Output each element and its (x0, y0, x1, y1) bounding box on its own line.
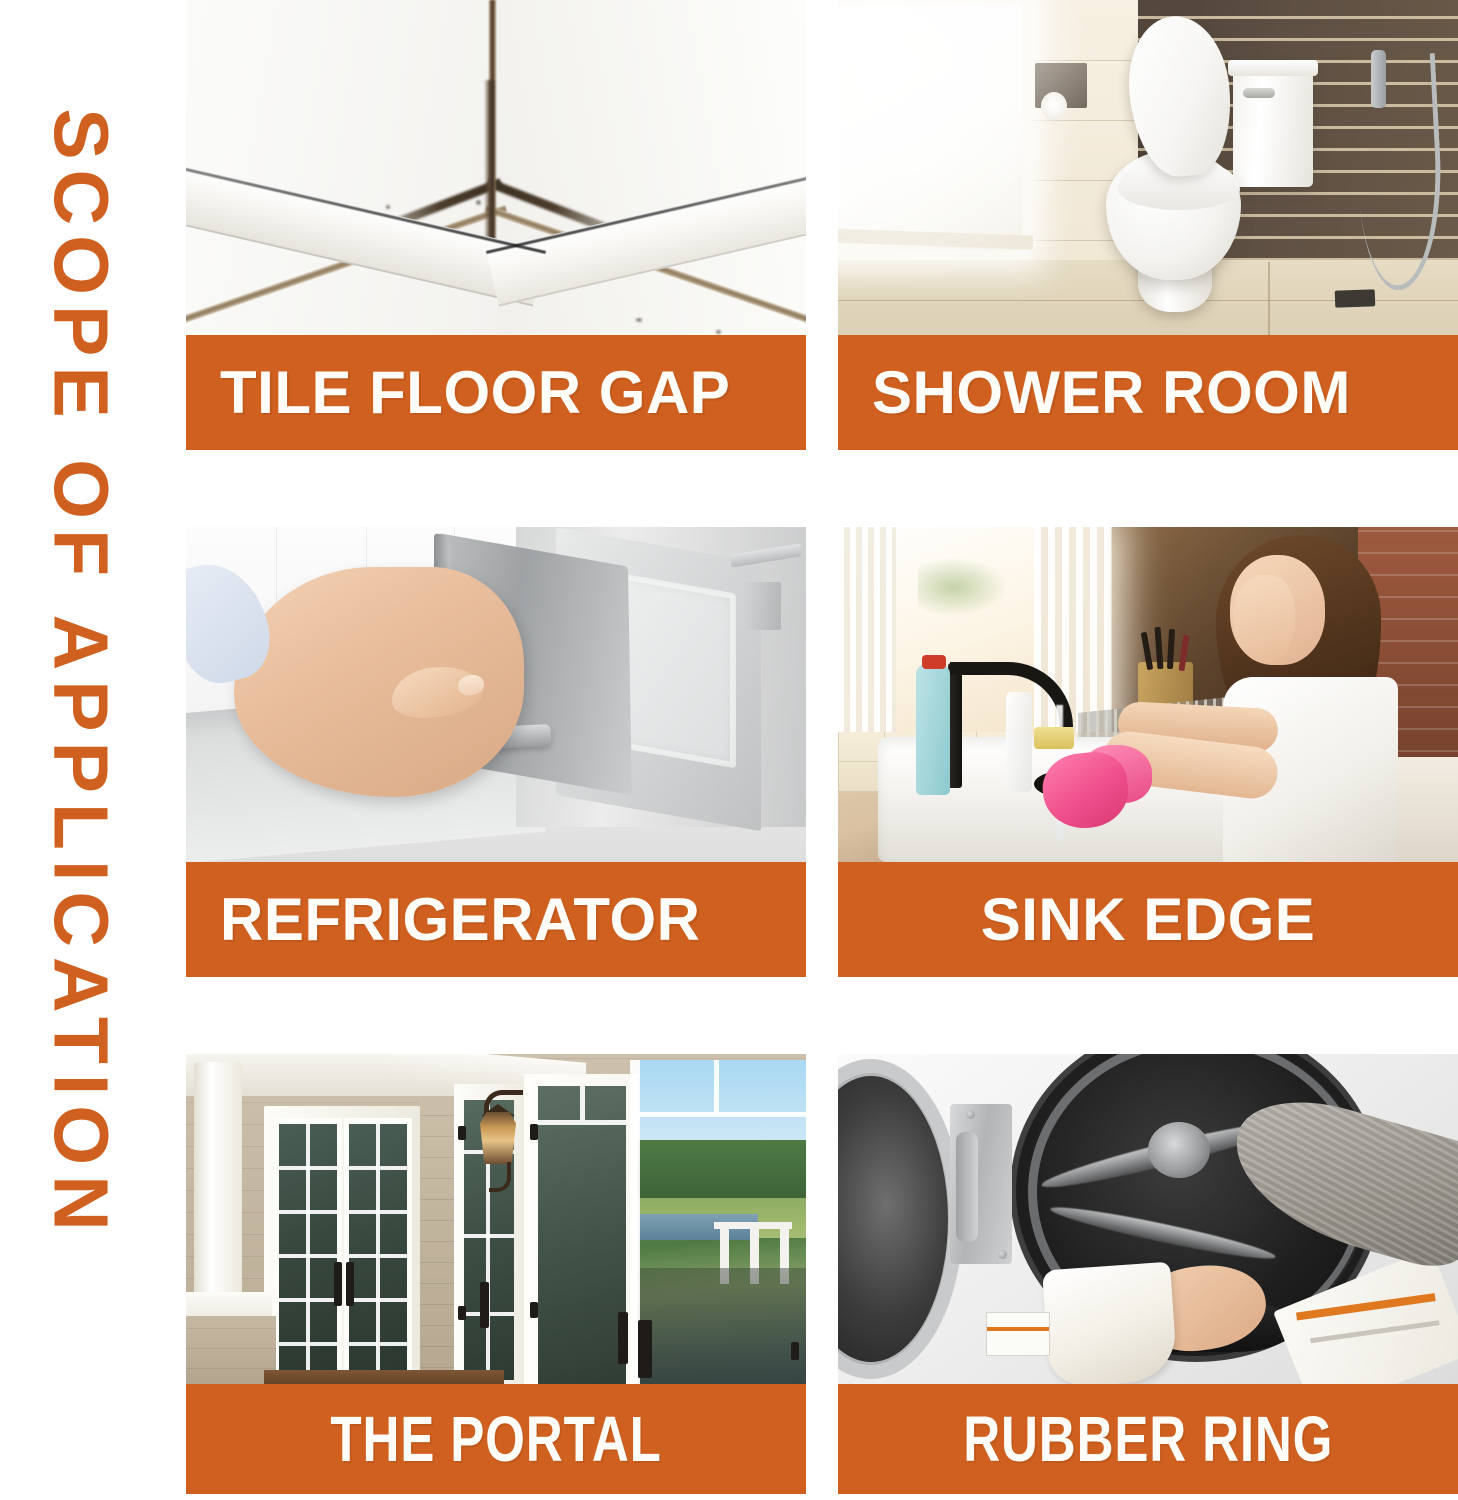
fridge-hinge (741, 582, 781, 630)
porch-column (194, 1062, 242, 1307)
photo-refrigerator (186, 527, 806, 862)
reflection-trees (638, 1140, 806, 1198)
caption-bar-rubber-ring: RUBBER RING (838, 1384, 1458, 1494)
photo-the-portal (186, 1054, 806, 1384)
spray-bottle-cap (922, 655, 946, 669)
floor-drain (1335, 289, 1376, 307)
door-hinge (530, 1302, 538, 1318)
photo-sink-edge (838, 527, 1458, 862)
door-threshold (264, 1370, 504, 1384)
lantern-light-icon (480, 1112, 516, 1164)
application-card-refrigerator[interactable]: REFRIGERATOR (186, 527, 806, 977)
screw (998, 1250, 1007, 1259)
grime-speck (636, 318, 642, 322)
grime-speck (716, 330, 721, 334)
photo-rubber-ring (838, 1054, 1458, 1384)
grime-speck (476, 200, 481, 205)
floor-joint (1268, 262, 1270, 335)
toilet-tank-lid (1228, 60, 1318, 76)
caption-label: REFRIGERATOR (220, 890, 700, 950)
muntin-bar (580, 1086, 585, 1120)
spray-bottle (916, 665, 950, 795)
cleaning-cloth (1042, 1262, 1178, 1384)
application-card-tile-floor-gap[interactable]: TILE FLOOR GAP (186, 0, 806, 450)
door-handle[interactable] (618, 1312, 628, 1364)
scope-of-application-poster: SCOPE OF APPLICATION (0, 0, 1458, 1500)
photo-shower-room (838, 0, 1458, 335)
side-title-text: SCOPE OF APPLICATION (36, 15, 125, 1335)
door-hinge (791, 1342, 799, 1360)
caption-bar-shower-room: SHOWER ROOM (838, 335, 1458, 450)
muntin-bar (538, 1120, 626, 1125)
screw (966, 1110, 975, 1119)
label-stripe (1296, 1293, 1436, 1320)
bidet-sprayer (1371, 50, 1386, 108)
application-card-rubber-ring[interactable]: RUBBER RING (838, 1054, 1458, 1499)
toilet-tank (1233, 62, 1313, 187)
door-handle[interactable] (346, 1262, 354, 1306)
grime-speck (386, 205, 390, 209)
door-handle[interactable] (334, 1262, 342, 1306)
girl-face (1233, 575, 1295, 663)
window-greenery (918, 557, 1008, 617)
window-glow (838, 0, 1098, 290)
application-card-sink-edge[interactable]: SINK EDGE (838, 527, 1458, 977)
chair (1398, 757, 1458, 862)
door-hinge (530, 1124, 538, 1140)
application-card-the-portal[interactable]: THE PORTAL (186, 1054, 806, 1499)
door-handle[interactable] (480, 1282, 489, 1328)
application-card-shower-room[interactable]: SHOWER ROOM (838, 0, 1458, 450)
muntin-bar (306, 1124, 310, 1372)
door-glass-right-inner (538, 1086, 626, 1384)
caption-bar-the-portal: THE PORTAL (186, 1384, 806, 1494)
caption-label: SHOWER ROOM (872, 363, 1351, 423)
door-hinge (458, 1126, 466, 1140)
door-hinge (458, 1306, 466, 1320)
muntin-bar (714, 1060, 719, 1112)
muntin-bar (376, 1124, 380, 1372)
side-title-banner: SCOPE OF APPLICATION (0, 0, 150, 1500)
caption-bar-tile-floor-gap: TILE FLOOR GAP (186, 335, 806, 450)
muntin-bar (638, 1112, 806, 1117)
sponge (1034, 727, 1074, 749)
low-wall (186, 1316, 276, 1384)
caption-label: SINK EDGE (981, 890, 1316, 950)
label-stripe (987, 1327, 1049, 1331)
flush-handle (1243, 88, 1275, 98)
reflection-sky (638, 1060, 806, 1146)
washer-hinge-pin (956, 1132, 978, 1242)
caption-bar-sink-edge: SINK EDGE (838, 862, 1458, 977)
photo-tile-floor-gap (186, 0, 806, 335)
curtain-left (838, 527, 896, 742)
caption-bar-refrigerator: REFRIGERATOR (186, 862, 806, 977)
application-grid: TILE FLOOR GAP (186, 0, 1458, 1495)
caption-label: THE PORTAL (330, 1407, 661, 1471)
caption-label: TILE FLOOR GAP (220, 363, 730, 423)
reflection-railing (638, 1268, 806, 1384)
door-handle[interactable] (638, 1320, 652, 1378)
soap-dispenser (1006, 692, 1032, 792)
warning-label-left (986, 1312, 1050, 1356)
caption-label: RUBBER RING (963, 1407, 1333, 1471)
label-stripe (1310, 1320, 1439, 1343)
